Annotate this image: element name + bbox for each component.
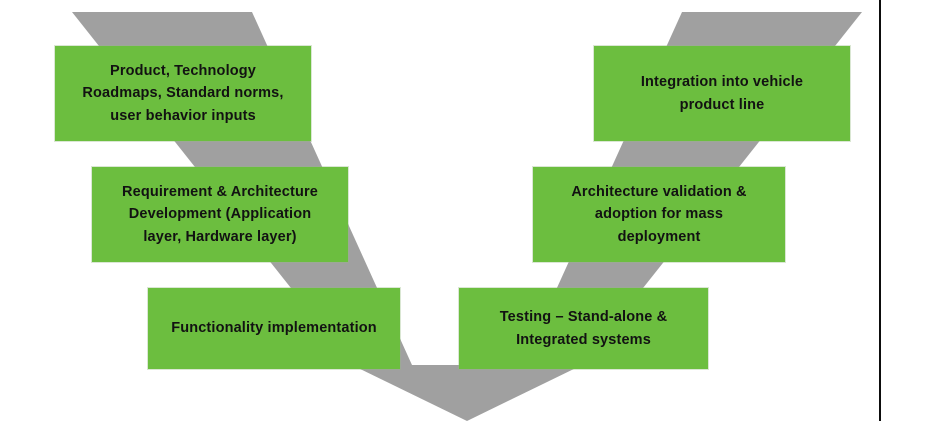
stage-line: Functionality implementation (158, 317, 390, 339)
frame-divider-line (879, 0, 881, 421)
stage-line: Integration into vehicle (604, 71, 840, 93)
stage-line: layer, Hardware layer) (102, 226, 338, 248)
stage-label-right-3: Testing – Stand-alone & Integrated syste… (469, 306, 698, 351)
stage-label-right-2: Architecture validation & adoption for m… (543, 181, 775, 248)
stage-box-functionality-implementation[interactable]: Functionality implementation (148, 288, 400, 369)
stage-box-integration-into-vehicle-product-line[interactable]: Integration into vehicle product line (594, 46, 850, 141)
stage-line: Product, Technology (65, 60, 301, 82)
stage-line: user behavior inputs (65, 105, 301, 127)
stage-line: Architecture validation & (543, 181, 775, 203)
stage-line: Requirement & Architecture (102, 181, 338, 203)
stage-line: Development (Application (102, 203, 338, 225)
stage-box-product-technology-roadmaps[interactable]: Product, Technology Roadmaps, Standard n… (55, 46, 311, 141)
stage-box-testing-standalone-integrated[interactable]: Testing – Stand-alone & Integrated syste… (459, 288, 708, 369)
stage-line: Testing – Stand-alone & (469, 306, 698, 328)
stage-line: product line (604, 94, 840, 116)
stage-line: deployment (543, 226, 775, 248)
stage-label-left-3: Functionality implementation (158, 317, 390, 339)
stage-box-requirement-architecture-development[interactable]: Requirement & Architecture Development (… (92, 167, 348, 262)
stage-line: Roadmaps, Standard norms, (65, 82, 301, 104)
stage-label-left-1: Product, Technology Roadmaps, Standard n… (65, 60, 301, 127)
stage-label-right-1: Integration into vehicle product line (604, 71, 840, 116)
stage-box-architecture-validation-adoption[interactable]: Architecture validation & adoption for m… (533, 167, 785, 262)
v-model-diagram: Product, Technology Roadmaps, Standard n… (0, 0, 934, 421)
stage-line: Integrated systems (469, 329, 698, 351)
chevron-bottom-point (352, 365, 582, 421)
stage-label-left-2: Requirement & Architecture Development (… (102, 181, 338, 248)
stage-line: adoption for mass (543, 203, 775, 225)
